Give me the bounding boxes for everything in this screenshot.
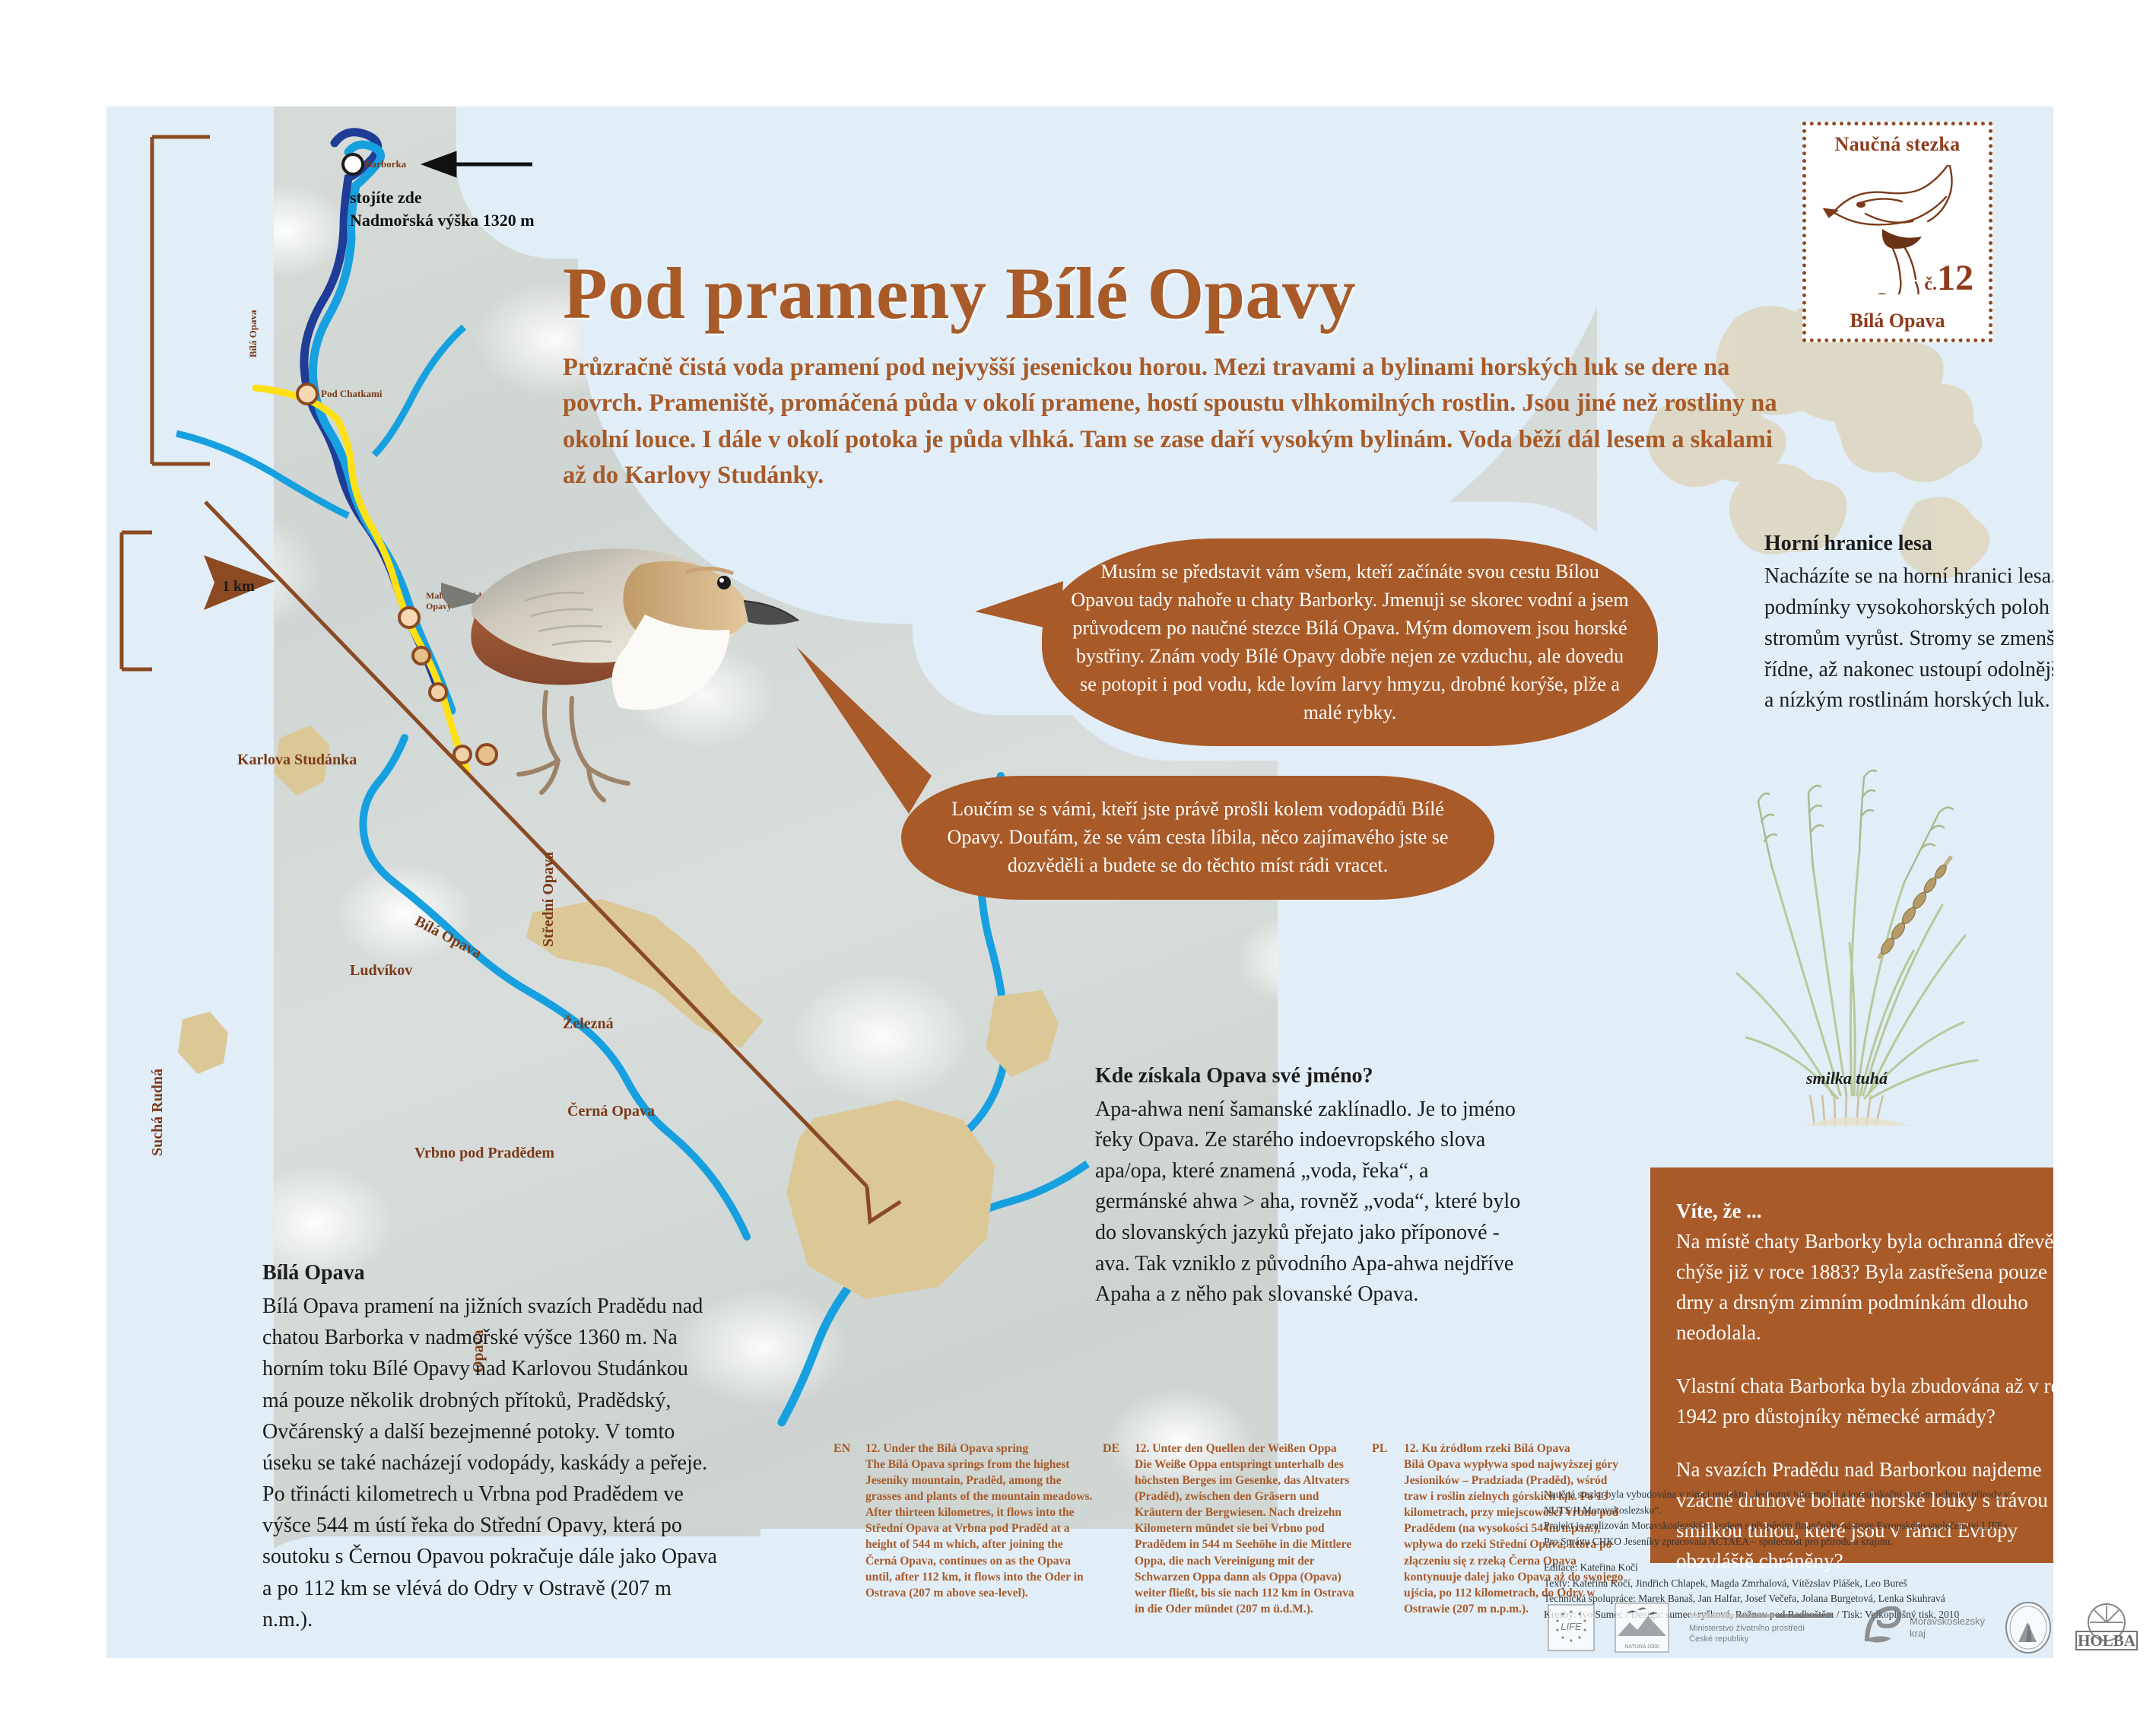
chko-jeseniky-logo — [2005, 1601, 2052, 1654]
credits-line-4: Editace: Kateřina Kočí — [1544, 1560, 2031, 1576]
map-scale-label: 1 km — [222, 578, 255, 596]
stamp-top-label: Naučná stezka — [1815, 133, 1980, 156]
bubble-intro: Musím se představit vám všem, kteří začí… — [1042, 538, 1658, 746]
language-title-en: 12. Under the Bílá Opava spring — [865, 1441, 1094, 1457]
holba-logo: HOLBA — [2072, 1601, 2142, 1654]
svg-text:NATURA 2000: NATURA 2000 — [1624, 1644, 1659, 1650]
map-place-vrbno-pod-pradedem: Vrbno pod Pradědem — [414, 1145, 554, 1162]
opava-name-section: Kde získala Opava své jméno? Apa-ahwa ne… — [1095, 1061, 1521, 1310]
did-you-know-para-1: Na místě chaty Barborky byla ochranná dř… — [1676, 1227, 2053, 1349]
information-panel: stojíte zde Nadmořská výška 1320 m 1 km … — [106, 106, 2053, 1658]
svg-text:LIFE: LIFE — [1561, 1621, 1582, 1632]
page-title: Pod prameny Bílé Opavy — [563, 251, 1356, 335]
ministry-line-2: České republiky — [1689, 1634, 1841, 1645]
kraj-mark-icon — [1861, 1606, 1904, 1649]
language-block-en: EN 12. Under the Bílá Opava spring The B… — [865, 1441, 1094, 1601]
map-place-zelezna: Železná — [563, 1015, 614, 1033]
did-you-know-para-2: Vlastní chata Barborka byla zbudována až… — [1676, 1371, 2053, 1432]
language-title-pl: 12. Ku źródłom rzeki Bílá Opava — [1404, 1441, 1632, 1457]
you-are-here-line2: Nadmořská výška 1320 m — [350, 209, 677, 232]
natura-2000-logo: NATURA 2000 — [1615, 1603, 1669, 1653]
language-code-de: DE — [1103, 1441, 1119, 1457]
map-stop-barborka: Barborka — [365, 158, 406, 170]
kraj-line-2: kraj — [1910, 1628, 1985, 1640]
you-are-here-line1: stojíte zde — [350, 186, 677, 209]
map-place-cerna-opava: Černá Opava — [567, 1103, 655, 1120]
bila-opava-body: Bílá Opava pramení na jižních svazích Pr… — [262, 1295, 717, 1631]
credits-line-5: Texty: Kateřina Kočí, Jindřich Chlapek, … — [1544, 1576, 2031, 1592]
credits-line-2: Projekt je realizován Moravskoslezským k… — [1544, 1518, 2031, 1534]
horni-hranice-heading: Horní hranice lesa — [1764, 529, 2053, 560]
language-body-en: The Bílá Opava springs from the highest … — [865, 1457, 1094, 1601]
intro-paragraph: Průzračně čistá voda pramení pod nejvyšš… — [563, 350, 1795, 494]
moravskoslezsky-kraj-logo: Moravskoslezský kraj — [1861, 1606, 1985, 1649]
holba-wordmark: HOLBA — [2078, 1631, 2136, 1650]
map-stop-pod-chatkami: Pod Chatkami — [321, 388, 383, 400]
logo-row: LIFE NATURA 2000 Ministerstvo životního … — [1548, 1601, 2142, 1654]
opava-name-heading: Kde získala Opava své jméno? — [1095, 1061, 1521, 1092]
kraj-line-1: Moravskoslezský — [1910, 1615, 1985, 1628]
map-place-karlova-studanka: Karlova Studánka — [237, 751, 357, 769]
opava-name-body: Apa-ahwa není šamanské zaklínadlo. Je to… — [1095, 1098, 1520, 1307]
language-code-pl: PL — [1372, 1441, 1387, 1457]
life-plus-logo: LIFE — [1548, 1604, 1595, 1651]
stamp-bottom-label: Bílá Opava — [1806, 310, 1989, 332]
stamp-number-value: 12 — [1937, 258, 1973, 298]
language-title-de: 12. Unter den Quellen der Weißen Oppa — [1135, 1441, 1359, 1457]
credits-spacer — [1544, 1549, 2031, 1560]
did-you-know-heading: Víte, že ... — [1676, 1196, 2053, 1227]
bila-opava-heading: Bílá Opava — [262, 1257, 719, 1288]
stamp-number: č.12 — [1924, 257, 1973, 299]
map-place-ludvikov: Ludvíkov — [350, 962, 412, 980]
you-are-here-note: stojíte zde Nadmořská výška 1320 m — [350, 186, 677, 231]
credits-line-1: Naučná stezka byla vybudována v rámci pr… — [1544, 1487, 2031, 1518]
ministry-environment-logo: Ministerstvo životního prostředí České r… — [1689, 1610, 1841, 1645]
ministry-bar-icon — [1689, 1612, 1834, 1620]
plant-label: smilka tuhá — [1806, 1069, 1888, 1088]
bubble-farewell: Loučím se s vámi, kteří jste právě prošl… — [901, 776, 1494, 900]
language-code-en: EN — [834, 1441, 850, 1457]
smilka-tuha-grass-illustration — [1688, 639, 2053, 1126]
trail-stamp-badge: Naučná stezka č.12 Bílá Opava — [1802, 122, 1992, 342]
language-block-de: DE 12. Unter den Quellen der Weißen Oppa… — [1135, 1441, 1359, 1617]
map-river-bila-opava-upper: Bílá Opava — [247, 310, 259, 358]
stamp-number-prefix: č. — [1924, 275, 1937, 294]
credits-line-3: Pro Správu CHKO Jeseníky zpracovala ACTA… — [1544, 1534, 2031, 1550]
language-body-de: Die Weiße Oppa entspringt unterhalb des … — [1135, 1457, 1359, 1617]
ministry-line-1: Ministerstvo životního prostředí — [1689, 1624, 1841, 1634]
map-place-sucha-rudna: Suchá Rudná — [149, 1069, 167, 1156]
bubble-tail-2 — [795, 639, 947, 821]
bila-opava-section: Bílá Opava Bílá Opava pramení na jižních… — [262, 1257, 719, 1635]
